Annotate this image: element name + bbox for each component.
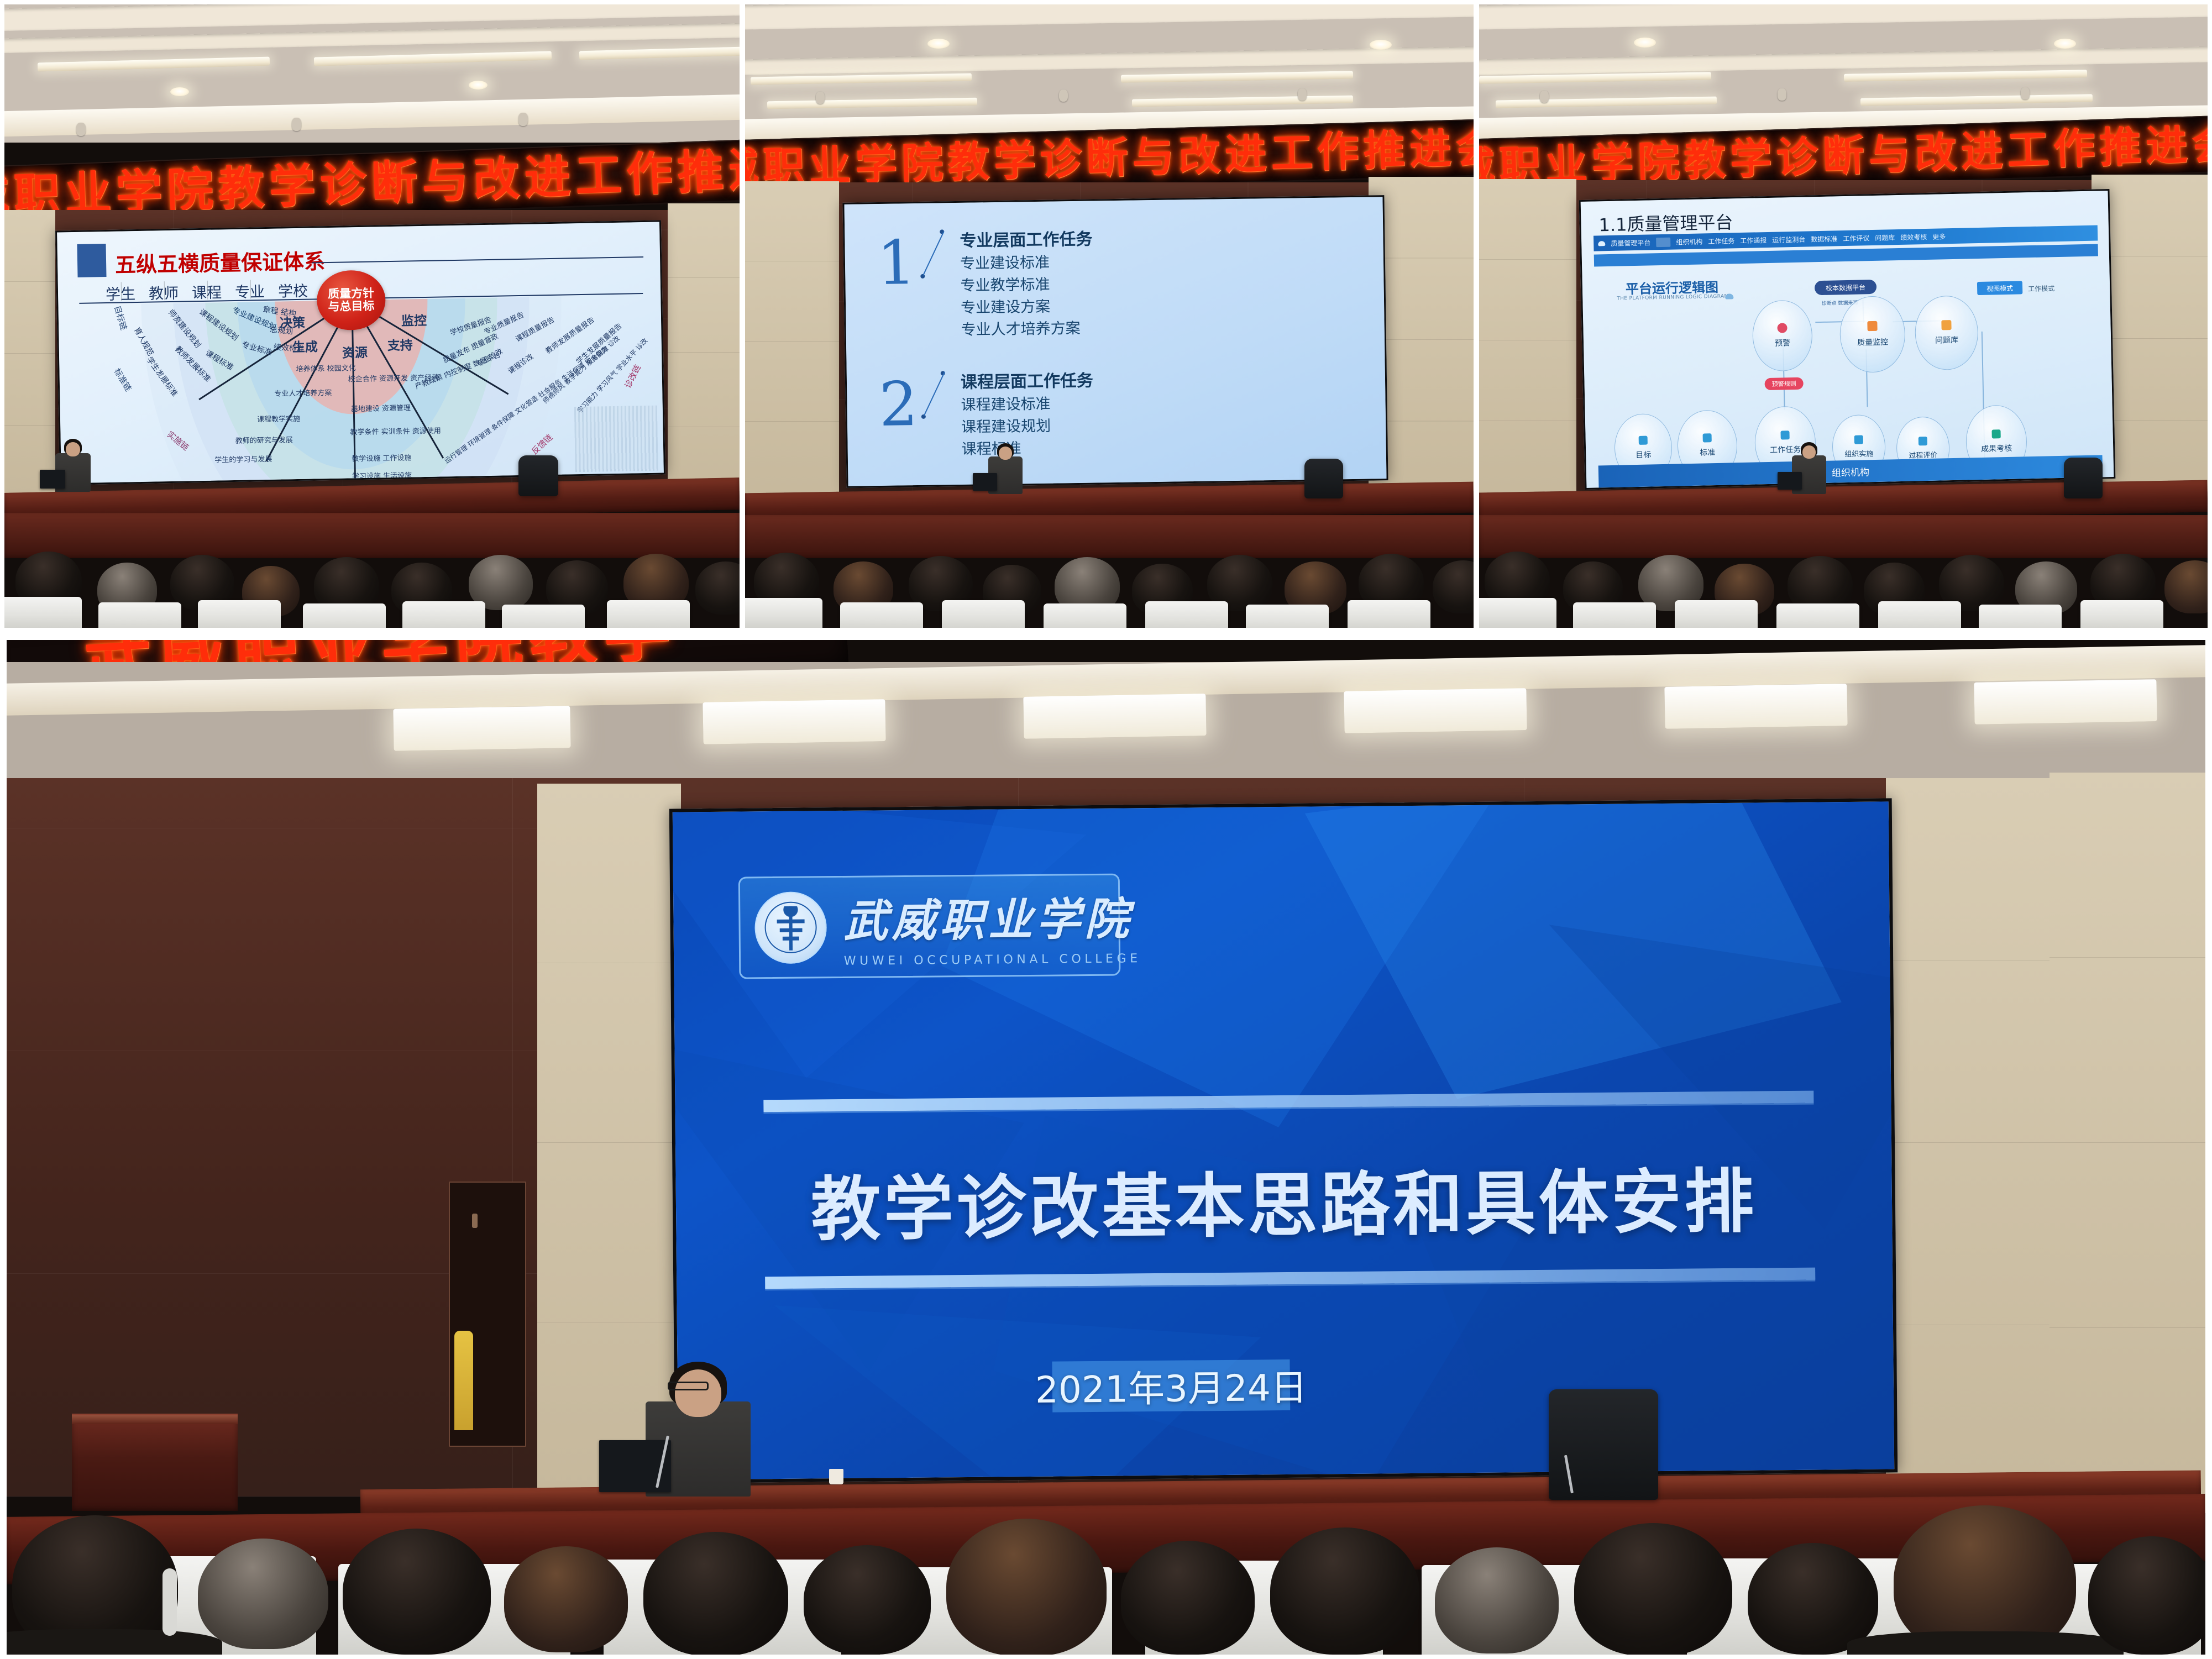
- slide-accent-square: [77, 244, 106, 277]
- slide1-ring-label: 监控: [401, 310, 427, 329]
- slide1-col: 学校: [271, 279, 315, 301]
- ceiling-panel-light: [703, 699, 885, 744]
- slide1-item: 培养体系 校园文化: [296, 362, 355, 374]
- slide1-ring-label: 资源: [342, 342, 368, 361]
- audience-chair: [840, 602, 923, 628]
- grid-icon: [1656, 237, 1670, 247]
- pillar: [537, 784, 681, 1502]
- slide3-node-label: 预警: [1775, 337, 1790, 349]
- slide2-heading: 专业层面工作任务: [960, 225, 1093, 251]
- slide3-alert-pill: 预警规则: [1764, 377, 1803, 390]
- slide1-item: 教学设施 工作设施: [352, 452, 411, 463]
- audience-chair: [1246, 605, 1329, 628]
- stage-chair: [2064, 458, 2103, 498]
- ceiling-downlight: [469, 81, 488, 90]
- slide2-item: 课程建设标准: [961, 392, 1051, 414]
- stage-front-panel: [745, 515, 1474, 558]
- slide3-node-label: 组织实施: [1844, 448, 1873, 459]
- slide3-node: 质量监控: [1839, 296, 1906, 373]
- slide1-item: 学生的学习与发展: [214, 453, 272, 465]
- stage-chair: [518, 455, 558, 496]
- audience-head: [1435, 1547, 1559, 1653]
- sprinkler-head: [1540, 91, 1549, 103]
- slide3-nav-item[interactable]: 组织机构: [1676, 237, 1702, 246]
- slide3-node: 预警: [1752, 300, 1813, 371]
- audience-chair: [1348, 600, 1430, 628]
- door-handle-icon: [472, 1214, 478, 1228]
- sprinkler-head: [292, 118, 301, 131]
- slide3-node-label: 成果考核: [1981, 443, 2012, 454]
- slide3-nav-item[interactable]: 更多: [1932, 232, 1946, 241]
- laptop: [40, 470, 65, 489]
- slide3-node-label: 问题库: [1935, 334, 1958, 346]
- ceiling-panel-light: [1664, 684, 1847, 729]
- audience-chair: [198, 600, 281, 628]
- photo-panel-1: 威职业学院教学诊断与改进工作推进 五纵五横质量保证体系 学生 教师: [4, 4, 740, 628]
- slide3-nav-item[interactable]: 数据标准: [1811, 234, 1837, 244]
- audience-chair: [942, 600, 1025, 628]
- ceiling-downlight: [1634, 38, 1656, 48]
- slide2-heading: 课程层面工作任务: [961, 367, 1094, 393]
- audience-head: [198, 1539, 328, 1649]
- slide2-number: 1: [877, 232, 916, 293]
- cloud-icon: [1725, 293, 1733, 299]
- lock-icon: [1941, 320, 1951, 330]
- audience-head: [1121, 1541, 1255, 1655]
- pillar: [1886, 778, 2052, 1508]
- stage-front-panel: [1479, 515, 2208, 558]
- water-cup: [829, 1469, 843, 1484]
- sprinkler-head: [76, 123, 86, 136]
- person-in-doorway: [454, 1331, 473, 1430]
- slide3-node-label: 工作任务: [1770, 444, 1801, 455]
- ceiling-panel-light: [1974, 679, 2157, 725]
- audience-chair: [1479, 598, 1556, 628]
- task-icon: [1780, 431, 1789, 439]
- college-logo: 武威职业学院 WUWEI OCCUPATIONAL COLLEGE: [738, 874, 1121, 979]
- photo-panel-3: 威职业学院教学诊断与改进工作推进会 1.1质量管理平台 质量管理平台 组织机构 …: [1479, 4, 2208, 628]
- slide1-item: 绩效标准: [273, 342, 305, 354]
- audience-chair: [1145, 601, 1228, 628]
- slide3-nav-item[interactable]: 问题库: [1875, 233, 1895, 243]
- photo-panel-main: 武威职业学院教学: [7, 640, 2205, 1655]
- slide1-building-watermark: [574, 406, 658, 473]
- ceiling-panel-light: [1023, 694, 1206, 739]
- college-name-en: WUWEI OCCUPATIONAL COLLEGE: [844, 952, 1141, 968]
- slide1-title-rule: [312, 256, 643, 263]
- alert-icon: [1777, 323, 1787, 333]
- slide-date: 2021年3月24日: [1052, 1359, 1290, 1413]
- side-wall: [1479, 179, 1576, 502]
- slide3-nav-item[interactable]: 运行监测台: [1772, 234, 1805, 244]
- photo-panel-2: 威职业学院教学诊断与改进工作推进会 1 专业层面工作任务 专业建设标准 专业教学…: [745, 4, 1474, 628]
- audience-chair: [1573, 602, 1656, 628]
- slide1-chain-label: 标准链: [112, 366, 134, 393]
- slide1-item: 教师的研究与发展: [235, 434, 293, 445]
- monitor-icon: [1867, 321, 1877, 331]
- slide3-mode-on[interactable]: 视图模式: [1977, 281, 2022, 295]
- audience-chair: [1044, 603, 1126, 628]
- slide1-chain-label: 目标链: [112, 304, 130, 331]
- sprinkler-head: [518, 113, 528, 126]
- college-name-cn: 武威职业学院: [843, 883, 1141, 950]
- slide3-node-label: 标准: [1700, 447, 1715, 458]
- audience-head: [1574, 1523, 1732, 1655]
- audience-chair: [2080, 600, 2163, 628]
- side-wall: [2049, 773, 2205, 1513]
- slide1-item: 基地建设 资源管理: [351, 402, 411, 413]
- audience-chair: [607, 600, 690, 628]
- ceiling-panel-light: [393, 706, 570, 751]
- glasses-icon: [668, 1382, 709, 1390]
- slide2-item: 课程建设规划: [961, 414, 1051, 437]
- evaluate-icon: [1919, 437, 1927, 445]
- cloud-icon: [1598, 241, 1605, 246]
- slide3-node-label: 目标: [1636, 449, 1651, 461]
- sprinkler-head: [1059, 90, 1068, 102]
- slide1-hub-line1: 质量方针: [328, 287, 374, 301]
- college-seal-icon: [754, 891, 827, 964]
- slide-main-title: 教学诊改基本思路和具体安排: [675, 1144, 1893, 1255]
- sprinkler-head: [2021, 87, 2030, 99]
- sprinkler-head: [816, 92, 825, 104]
- audience-chair: [303, 603, 386, 628]
- slide3-mode-off[interactable]: 工作模式: [2028, 283, 2054, 293]
- slide1-ring-label: 支持: [387, 334, 413, 354]
- layers-icon: [1854, 435, 1863, 444]
- audience-chair: [1878, 601, 1961, 628]
- photo-collage: 威职业学院教学诊断与改进工作推进 五纵五横质量保证体系 学生 教师: [0, 0, 2212, 1659]
- face-mask-strap: [163, 1568, 177, 1636]
- slide3-nav-item[interactable]: 工作任务: [1708, 236, 1734, 246]
- audience-head: [804, 1545, 931, 1655]
- slide2-leader-line: [924, 371, 945, 416]
- side-wall: [4, 210, 55, 497]
- slide3-nav-item[interactable]: 工作评议: [1843, 233, 1869, 243]
- stage-chair: [1549, 1389, 1658, 1500]
- audience-chair: [402, 601, 485, 628]
- ceiling-downlight: [2054, 39, 2076, 49]
- slide1-item: 专业人才培养方案: [274, 387, 332, 398]
- ceiling-downlight: [927, 39, 950, 49]
- audience-chair: [502, 605, 585, 628]
- slide2-number: 2: [879, 374, 919, 435]
- sprinkler-head: [1298, 88, 1307, 101]
- target-icon: [1639, 436, 1648, 445]
- slide3-node: 问题库: [1914, 295, 1979, 370]
- audience-head: [504, 1546, 628, 1652]
- slide3-nav-item[interactable]: 工作通报: [1740, 235, 1767, 245]
- slide1-item: 总规划: [269, 324, 293, 337]
- stage-chair: [1304, 459, 1343, 498]
- audience-chair: [1776, 603, 1859, 628]
- sprinkler-head: [1778, 88, 1786, 101]
- slide2-item: 专业教学标准: [960, 272, 1050, 295]
- audience-shoulder: [1847, 1631, 2124, 1655]
- slide2-item: 专业人才培养方案: [961, 316, 1081, 339]
- slide1-item: 教学条件 实训条件 资源使用: [350, 424, 441, 437]
- audience-head: [643, 1532, 788, 1655]
- result-icon: [1991, 429, 2000, 438]
- laptop: [973, 473, 997, 491]
- slide3-node-label: 质量监控: [1857, 336, 1888, 348]
- audience-head: [1270, 1527, 1419, 1655]
- slide2-leader-line: [922, 231, 944, 275]
- audience-head: [2088, 1536, 2205, 1655]
- slide3-navbar-brand: 质量管理平台: [1611, 238, 1650, 248]
- standard-icon: [1703, 433, 1712, 442]
- slide1-item: 课程教学实施: [257, 413, 300, 424]
- audience-shoulder: [7, 1629, 222, 1655]
- laptop: [1778, 472, 1802, 490]
- ceiling-downlight: [1370, 40, 1392, 50]
- projection-screen: 1.1质量管理平台 质量管理平台 组织机构 工作任务 工作通报 运行监测台 数据…: [1579, 189, 2116, 490]
- slide2-item: 专业建设标准: [960, 250, 1050, 273]
- side-wall: [745, 181, 839, 502]
- audience-chair: [4, 597, 82, 628]
- ceiling-downlight: [170, 87, 189, 96]
- audience-head: [343, 1529, 491, 1655]
- audience-chair: [745, 598, 822, 628]
- audience-chair: [98, 602, 181, 628]
- audience-head: [2164, 560, 2208, 613]
- projection-screen: 五纵五横质量保证体系 学生 教师 课程 专业 学校: [55, 220, 665, 485]
- side-wall: [668, 203, 740, 502]
- slide2-item: 专业建设方案: [961, 295, 1051, 317]
- audience-chair: [1979, 605, 2062, 628]
- slide3-title: 1.1质量管理平台: [1598, 208, 1733, 237]
- projection-screen-main: 武威职业学院 WUWEI OCCUPATIONAL COLLEGE 教学诊改基本…: [669, 798, 1898, 1483]
- slide3-top-pill: 校本数据平台: [1815, 280, 1877, 295]
- audience-head: [946, 1519, 1107, 1655]
- stage-front-panel: [4, 513, 740, 558]
- slide1-hub-line2: 与总目标: [328, 300, 374, 313]
- lectern: [72, 1414, 238, 1511]
- audience-head: [1433, 560, 1474, 613]
- audience-head: [695, 561, 740, 615]
- ceiling-panel-light: [1344, 688, 1527, 733]
- projection-screen: 1 专业层面工作任务 专业建设标准 专业教学标准 专业建设方案 专业人才培养方案…: [842, 195, 1388, 488]
- slide3-nav-item[interactable]: 绩效考核: [1900, 232, 1927, 242]
- audience-chair: [1675, 600, 1758, 628]
- slide1-title: 五纵五横质量保证体系: [115, 244, 326, 279]
